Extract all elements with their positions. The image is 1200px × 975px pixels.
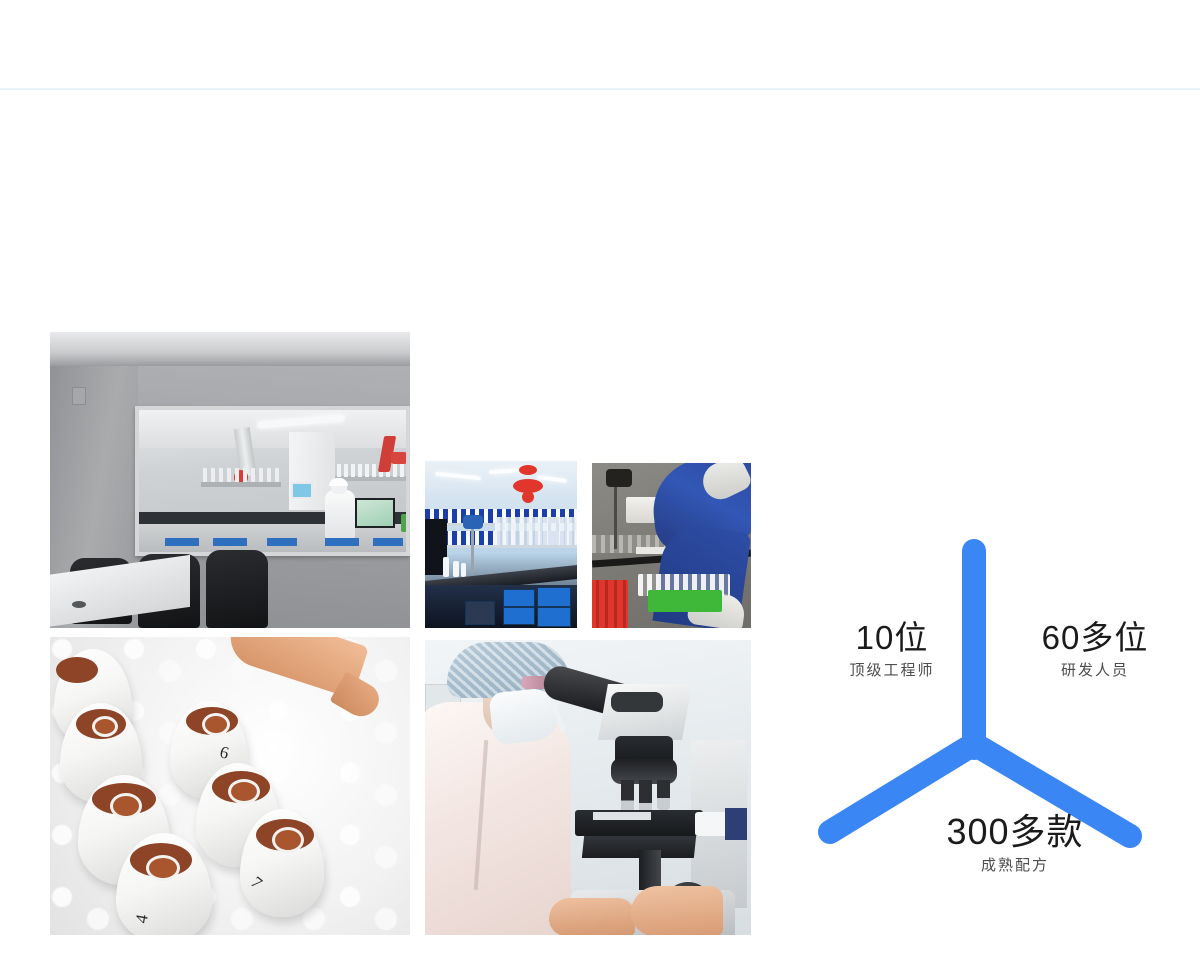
green-bottle [401,514,406,532]
bench-drawer [165,538,199,546]
inoculation-ring [92,716,118,737]
wash-bottle [461,563,466,577]
gloved-hand-upper [697,463,751,505]
bench-drawer [213,538,247,546]
dark-cabinet [465,601,495,625]
photo-scientist-at-microscope[interactable] [425,640,751,935]
egg-number-label: 6 [218,742,231,763]
stat-researchers-label: 研发人员 [1000,660,1190,681]
stat-engineers: 10位 顶级工程师 [812,620,972,681]
inoculation-ring [110,793,142,819]
stat-formulas: 300多款 成熟配方 [880,812,1150,876]
table-cable-grommet [72,601,86,608]
researcher-left-hand [549,898,635,935]
technician-cap [329,478,348,486]
inoculation-ring [272,827,304,853]
stat-researchers: 60多位 研发人员 [1000,620,1190,681]
photo-cleanroom-observation-window[interactable] [50,332,410,628]
blue-cabinet-door [537,587,571,607]
red-valve [391,452,406,464]
microscope-head-port [611,692,663,712]
green-tube-rack [648,590,722,612]
photo-scene [50,332,410,628]
reagent-bottles-right [337,464,406,477]
photo-blue-laboratory-bench[interactable] [425,461,577,628]
wall-monitor [291,482,313,499]
blue-cabinet-door [503,589,535,607]
objective-lens [621,780,634,814]
office-chair [206,550,268,628]
inoculation-ring [146,855,180,881]
lab-ceiling [139,410,406,448]
observation-window-glass [139,410,406,552]
researcher-right-hand [631,886,723,935]
dispensing-nozzle [606,469,632,487]
y-shaped-stats-diagram: 10位 顶级工程师 60多位 研发人员 300多款 成熟配方 [800,500,1200,930]
photo-scene: 4 6 7 [50,637,410,935]
stat-formulas-value: 300多款 [880,812,1150,852]
observation-window-frame [135,406,410,556]
shelf-left [201,482,281,487]
wash-bottle [453,561,459,577]
objective-lens [657,780,670,810]
stat-engineers-label: 顶级工程师 [812,660,972,681]
reagent-bottles-left [203,468,279,482]
lab-stand-clamp [463,515,483,529]
ceiling [425,461,577,503]
bench-drawer [325,538,359,546]
bench-drawer [373,538,403,546]
bench-drawer [267,538,297,546]
shelf [425,545,577,548]
red-tube-rack [592,580,628,628]
wash-bottle [443,557,449,577]
stat-engineers-value: 10位 [812,620,972,657]
ceiling-band [50,332,410,366]
photo-embryonated-eggs-tray[interactable]: 4 6 7 [50,637,410,935]
technician-body [325,490,355,538]
white-bottle-rack [495,517,577,545]
inoculation-ring [202,713,230,736]
specimen-slide [593,812,651,820]
blue-accent-panel [725,808,747,840]
inoculation-window [56,657,98,683]
photo-scene [425,640,751,935]
photo-scene [425,461,577,628]
blue-cabinet-door [503,607,535,625]
wall-switch [72,387,86,405]
egg-number-label: 4 [132,913,153,925]
stat-researchers-value: 60多位 [1000,620,1190,657]
blue-cabinet-door [537,607,571,627]
photo-biosafety-cabinet-sampling[interactable] [592,463,751,628]
condenser-block [695,812,729,836]
inoculation-ring [228,779,260,804]
probe-rod [614,477,617,549]
egg-number-label: 7 [247,873,266,894]
stat-formulas-label: 成熟配方 [880,855,1150,876]
red-sprinkler-hood [513,465,543,503]
workstation-monitor [355,498,395,528]
lab-photo-gallery: 4 6 7 [0,0,800,975]
photo-scene [592,463,751,628]
